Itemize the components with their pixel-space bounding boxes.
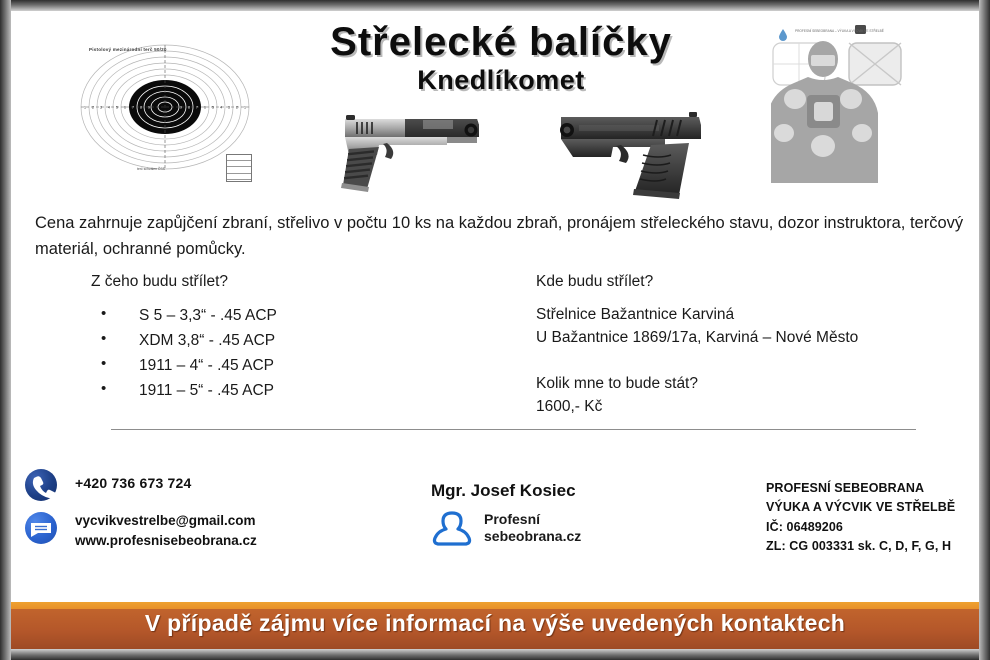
title-block: Střelecké balíčky Knedlíkomet: [311, 21, 691, 96]
footer-text: V případě zájmu více informací na výše u…: [11, 610, 979, 637]
svg-text:2: 2: [236, 105, 238, 109]
svg-text:1: 1: [84, 105, 86, 109]
company-info: PROFESNÍ SEBEOBRANA VÝUKA A VÝCVIK VE ST…: [766, 479, 955, 557]
guns-list: S 5 – 3,3“ - .45 ACP XDM 3,8“ - .45 ACP …: [91, 303, 491, 403]
silhouette-target-graphic: PROFESNÍ SEBEOBRANA – VÝUKA A VÝCVIK VE …: [771, 21, 961, 191]
svg-text:3: 3: [100, 105, 102, 109]
page-subtitle: Knedlíkomet: [311, 65, 691, 96]
range-name: Střelnice Bažantnice Karviná: [536, 303, 966, 326]
svg-text:3: 3: [228, 105, 230, 109]
place-question: Kde budu střílet?: [536, 273, 966, 291]
page-title: Střelecké balíčky: [311, 21, 691, 63]
svg-text:6: 6: [204, 105, 206, 109]
svg-text:6: 6: [124, 105, 126, 109]
logo-text: Profesní sebeobrana.cz: [484, 511, 581, 545]
pistol-xdm-image: [539, 95, 739, 200]
footer-band: V případě zájmu více informací na výše u…: [11, 602, 979, 649]
svg-text:7: 7: [196, 105, 198, 109]
email-address[interactable]: vycvikvestrelbe@gmail.com: [75, 511, 257, 531]
company-licence: ZL: CG 003331 sk. C, D, F, G, H: [766, 537, 955, 556]
company-name: PROFESNÍ SEBEOBRANA: [766, 479, 955, 498]
pistol-1911-image: [327, 93, 517, 193]
intro-paragraph: Cena zahrnuje zapůjčení zbraní, střelivo…: [35, 211, 965, 262]
list-item: S 5 – 3,3“ - .45 ACP: [91, 303, 491, 328]
price-question: Kolik mne to bude stát?: [536, 372, 966, 395]
logo-line-1: Profesní: [484, 511, 581, 528]
contacts-section: +420 736 673 724 vycvikvestrelbe@gmail.c…: [11, 459, 979, 579]
range-address: U Bažantnice 1869/17a, Karviná – Nové Mě…: [536, 326, 966, 349]
svg-text:8: 8: [188, 105, 190, 109]
svg-text:4: 4: [220, 105, 222, 109]
svg-text:PROFESNÍ SEBEOBRANA – VÝUKA A: PROFESNÍ SEBEOBRANA – VÝUKA A VÝCVIK VE …: [795, 28, 884, 33]
svg-text:5: 5: [212, 105, 214, 109]
target-score-tab: [226, 154, 252, 182]
divider: [111, 429, 916, 430]
svg-text:2: 2: [92, 105, 94, 109]
footer-band-accent: [11, 602, 979, 609]
message-icon[interactable]: [25, 512, 57, 544]
poster-page: 12 34 56 78 9 98 76 54 321 Pistolový mez…: [11, 11, 979, 649]
list-item: XDM 3,8“ - .45 ACP: [91, 328, 491, 353]
poster-frame: 12 34 56 78 9 98 76 54 321 Pistolový mez…: [0, 0, 990, 660]
company-activity: VÝUKA A VÝCVIK VE STŘELBĚ: [766, 498, 955, 517]
phone-icon[interactable]: [25, 469, 57, 501]
svg-text:9: 9: [148, 105, 150, 109]
svg-text:4: 4: [108, 105, 110, 109]
logo-line-2: sebeobrana.cz: [484, 528, 581, 545]
svg-text:8: 8: [140, 105, 142, 109]
phone-number[interactable]: +420 736 673 724: [75, 475, 191, 491]
svg-text:9: 9: [180, 105, 182, 109]
target-label: Pistolový mezinárodní terč 50/20: [89, 47, 167, 52]
spacer: [536, 350, 966, 372]
poster-header: 12 34 56 78 9 98 76 54 321 Pistolový mez…: [11, 11, 979, 196]
company-ico: IČ: 06489206: [766, 518, 955, 537]
profesni-sebeobrana-logo: Profesní sebeobrana.cz: [426, 509, 606, 553]
email-and-website[interactable]: vycvikvestrelbe@gmail.com www.profesnise…: [75, 511, 257, 550]
target-footnote: terč schválen ČSS: [137, 167, 165, 171]
ring-target-graphic: 12 34 56 78 9 98 76 54 321 Pistolový mez…: [73, 25, 258, 190]
contact-person-name: Mgr. Josef Kosiec: [431, 481, 576, 501]
svg-text:5: 5: [116, 105, 118, 109]
website-url[interactable]: www.profesnisebeobrana.cz: [75, 531, 257, 551]
place-column: Kde budu střílet? Střelnice Bažantnice K…: [536, 273, 966, 418]
svg-text:7: 7: [132, 105, 134, 109]
list-item: 1911 – 5“ - .45 ACP: [91, 378, 491, 403]
list-item: 1911 – 4“ - .45 ACP: [91, 353, 491, 378]
svg-text:1: 1: [244, 105, 246, 109]
price-value: 1600,- Kč: [536, 395, 966, 418]
guns-question: Z čeho budu střílet?: [91, 273, 491, 291]
guns-column: Z čeho budu střílet? S 5 – 3,3“ - .45 AC…: [91, 273, 491, 403]
